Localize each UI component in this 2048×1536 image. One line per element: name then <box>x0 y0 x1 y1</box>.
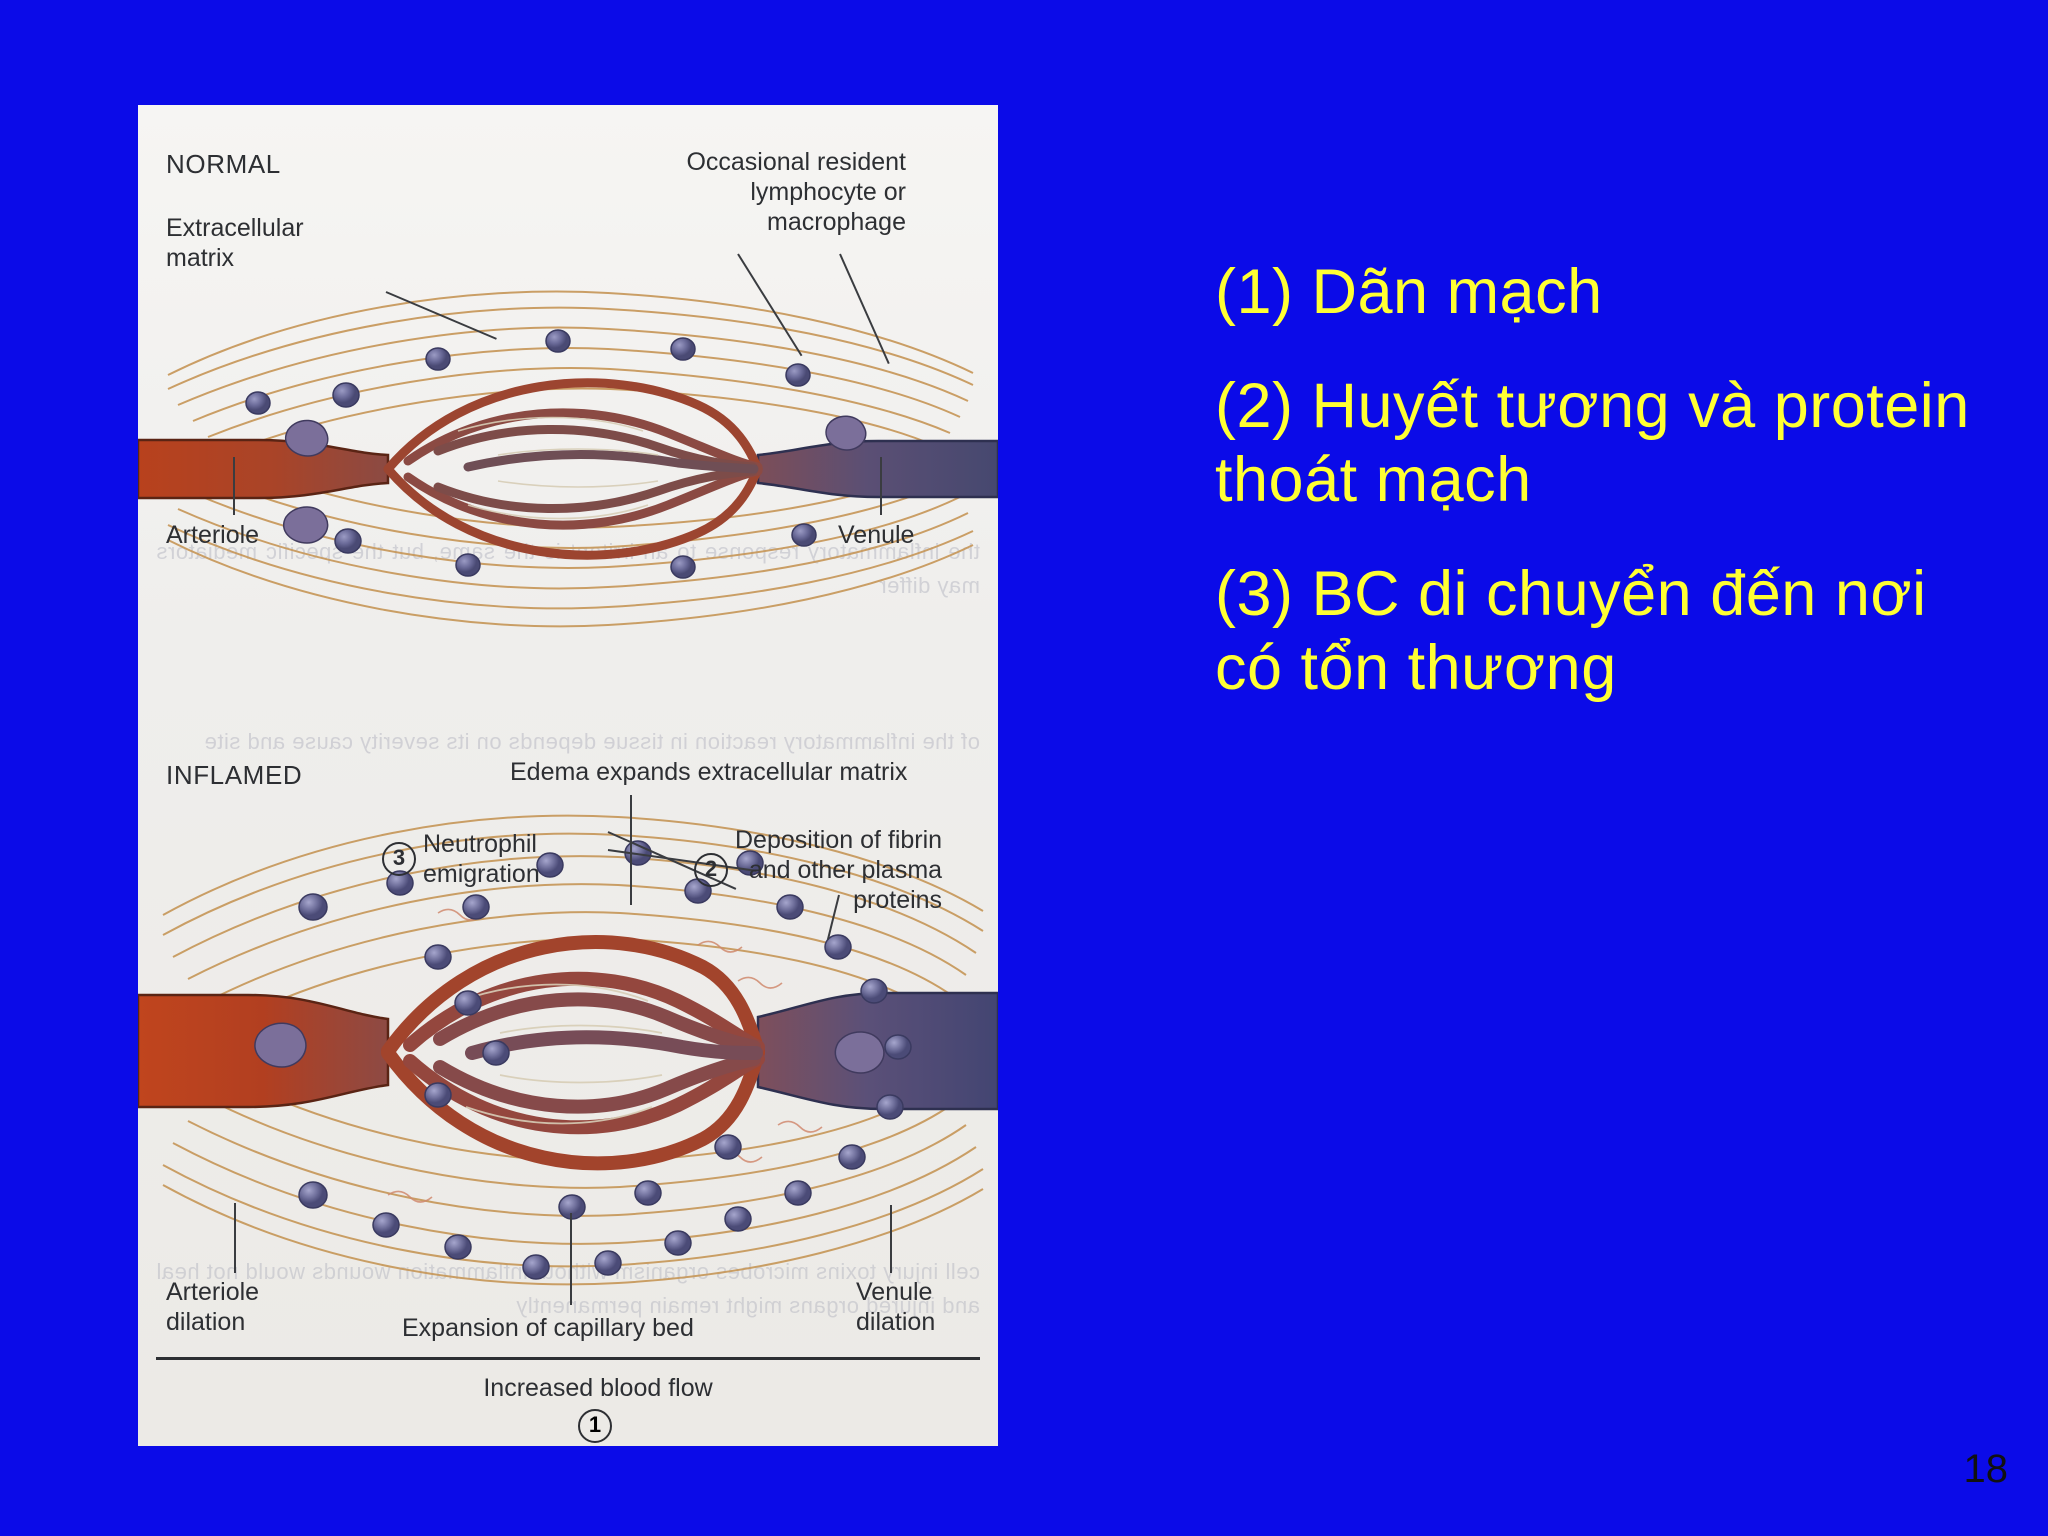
label-fibrin-deposition-text: Deposition of fibrin and other plasma pr… <box>735 825 942 915</box>
bullet-item-3: (3) BC di chuyển đến nơi có tổn thương <box>1215 557 2005 705</box>
leader-line-capillary-expansion <box>570 1213 572 1305</box>
label-capillary-expansion: Expansion of capillary bed <box>402 1313 694 1343</box>
bullet-item-1: (1) Dãn mạch <box>1215 255 2005 329</box>
label-fibrin-deposition: 2Deposition of fibrin and other plasma p… <box>694 795 942 915</box>
label-arteriole-dilation: Arteriole dilation <box>166 1277 259 1337</box>
callout-number-1-wrapper: 1 <box>578 1409 619 1443</box>
figure-divider-rule <box>156 1357 980 1360</box>
label-extracellular-matrix: Extracellular matrix <box>166 213 304 273</box>
leader-line-venule-dilation <box>890 1205 892 1273</box>
leader-line-arteriole <box>233 457 235 515</box>
label-neutrophil-emigration-text: Neutrophil emigration <box>423 829 540 889</box>
bullet-list: (1) Dãn mạch (2) Huyết tương và protein … <box>1215 255 2005 745</box>
callout-number-1: 1 <box>578 1409 612 1443</box>
label-venule: Venule <box>838 520 914 550</box>
normal-panel-title: NORMAL <box>166 149 281 179</box>
normal-microvasculature-diagram <box>138 255 998 655</box>
figure-card: the inflammatory response to an irritant… <box>138 105 998 1446</box>
label-edema-expands-matrix: Edema expands extracellular matrix <box>510 757 907 787</box>
inflamed-panel-title: INFLAMED <box>166 760 302 790</box>
label-arteriole: Arteriole <box>166 520 259 550</box>
leader-line-edema <box>630 795 632 905</box>
page-number: 18 <box>1964 1447 2009 1492</box>
callout-number-2: 2 <box>694 853 728 887</box>
label-resident-cells: Occasional resident lymphocyte or macrop… <box>576 147 906 237</box>
label-neutrophil-emigration: 3Neutrophil emigration <box>382 799 540 889</box>
callout-number-3: 3 <box>382 842 416 876</box>
leader-line-arteriole-dilation <box>234 1203 236 1273</box>
label-venule-dilation: Venule dilation <box>856 1277 935 1337</box>
slide-canvas: the inflammatory response to an irritant… <box>0 0 2048 1536</box>
leader-line-venule <box>880 457 882 515</box>
bullet-item-2: (2) Huyết tương và protein thoát mạch <box>1215 369 2005 517</box>
label-increased-blood-flow: Increased blood flow <box>398 1373 798 1403</box>
